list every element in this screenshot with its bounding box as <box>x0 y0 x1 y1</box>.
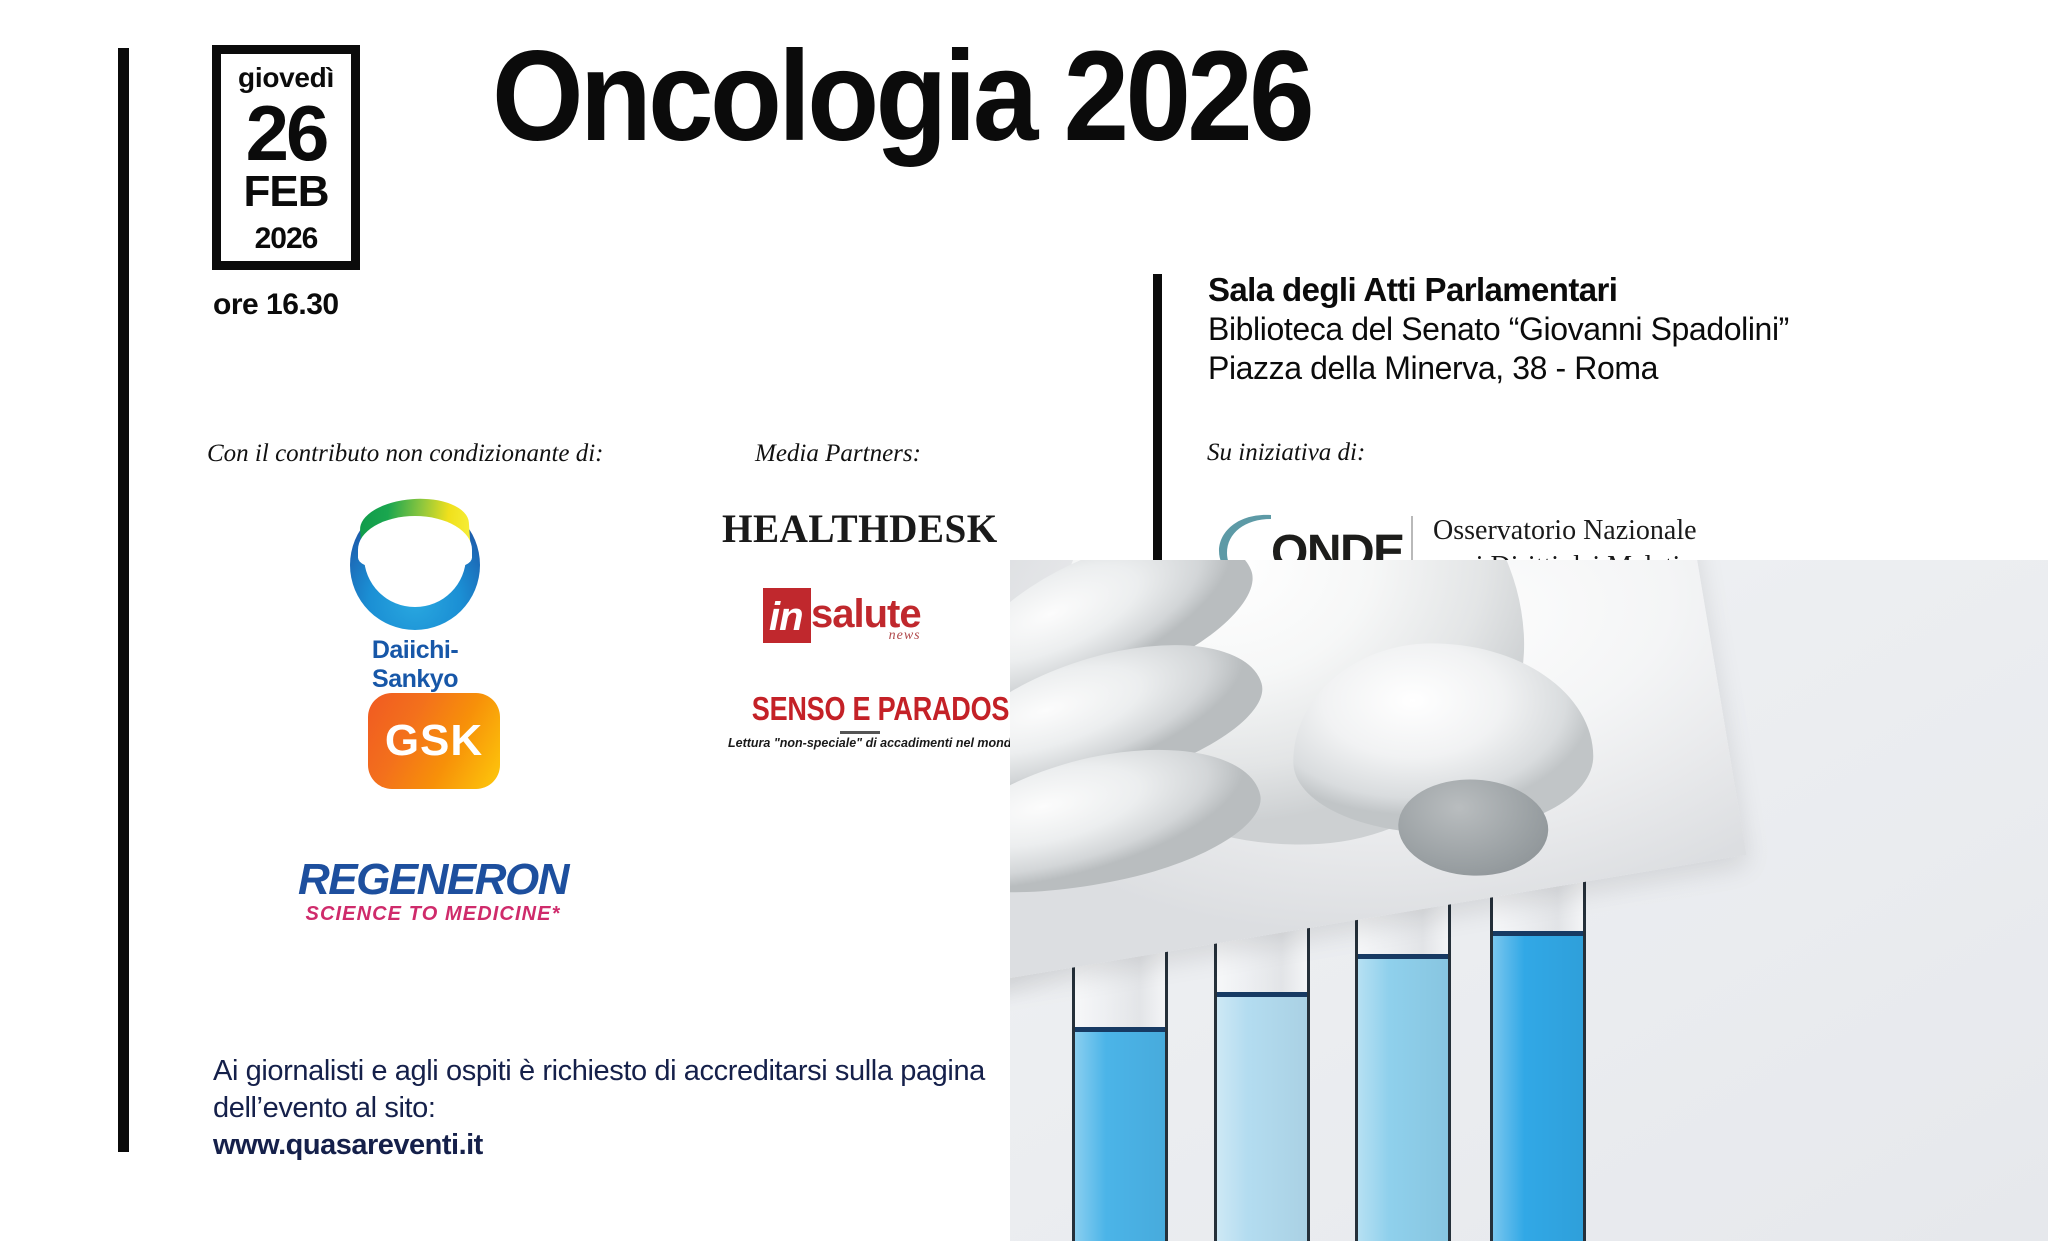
insalute-sub: news <box>889 628 921 644</box>
insalute-icon: in <box>763 588 811 643</box>
gsk-icon: GSK <box>368 693 500 789</box>
event-time: ore 16.30 <box>213 288 339 322</box>
venue-address: Piazza della Minerva, 38 - Roma <box>1208 349 1928 388</box>
onde-name-line1: Osservatorio Nazionale <box>1433 513 1697 549</box>
date-weekday: giovedì <box>238 64 334 92</box>
insalute-in-mark: in <box>769 592 803 642</box>
media-partners-caption: Media Partners: <box>755 440 921 468</box>
venue-block: Sala degli Atti Parlamentari Biblioteca … <box>1208 270 1928 388</box>
senso-divider <box>840 731 880 734</box>
accreditation-block: Ai giornalisti e agli ospiti è richiesto… <box>213 1053 1043 1162</box>
daiichi-sankyo-icon <box>350 500 480 630</box>
sponsor-logo-gsk: GSK <box>368 693 500 789</box>
initiative-caption: Su iniziativa di: <box>1207 439 1365 467</box>
date-day: 26 <box>246 96 327 170</box>
contributors-caption: Con il contributo non condizionante di: <box>207 440 604 468</box>
sponsor-logo-daiichi-sankyo: Daiichi-Sankyo <box>345 500 485 694</box>
senso-wordmark: SENSO E PARADOSSO <box>752 690 968 728</box>
accreditation-line-1: Ai giornalisti e agli ospiti è richiesto… <box>213 1053 1043 1090</box>
venue-building: Biblioteca del Senato “Giovanni Spadolin… <box>1208 310 1928 349</box>
venue-hall: Sala degli Atti Parlamentari <box>1208 270 1928 310</box>
event-website-url[interactable]: www.quasareventi.it <box>213 1129 1043 1162</box>
date-month: FEB <box>244 170 329 214</box>
regeneron-wordmark: REGENERON <box>263 855 603 905</box>
media-logo-senso-e-paradosso: SENSO E PARADOSSO Lettura "non-speciale"… <box>728 690 992 750</box>
poster-canvas: giovedì 26 FEB 2026 ore 16.30 Oncologia … <box>0 0 2048 1241</box>
regeneron-tagline: SCIENCE TO MEDICINE* <box>263 903 603 926</box>
lab-photo <box>1010 560 2048 1241</box>
accreditation-line-2: dell’evento al sito: <box>213 1090 1043 1127</box>
senso-tagline: Lettura "non-speciale" di accadimenti ne… <box>728 736 992 750</box>
sponsor-logo-regeneron: REGENERON SCIENCE TO MEDICINE* <box>263 855 603 926</box>
date-year: 2026 <box>255 224 318 254</box>
media-logo-healthdesk: HEALTHDESK <box>722 505 998 552</box>
daiichi-sankyo-wordmark: Daiichi-Sankyo <box>345 636 485 694</box>
media-logo-insalute: in salute news <box>763 588 921 643</box>
gsk-wordmark: GSK <box>368 693 500 789</box>
test-tube <box>1355 875 1451 1241</box>
test-tube <box>1490 861 1586 1241</box>
date-box: giovedì 26 FEB 2026 <box>212 45 360 270</box>
left-vertical-rule <box>118 48 129 1152</box>
page-title: Oncologia 2026 <box>492 32 1311 163</box>
